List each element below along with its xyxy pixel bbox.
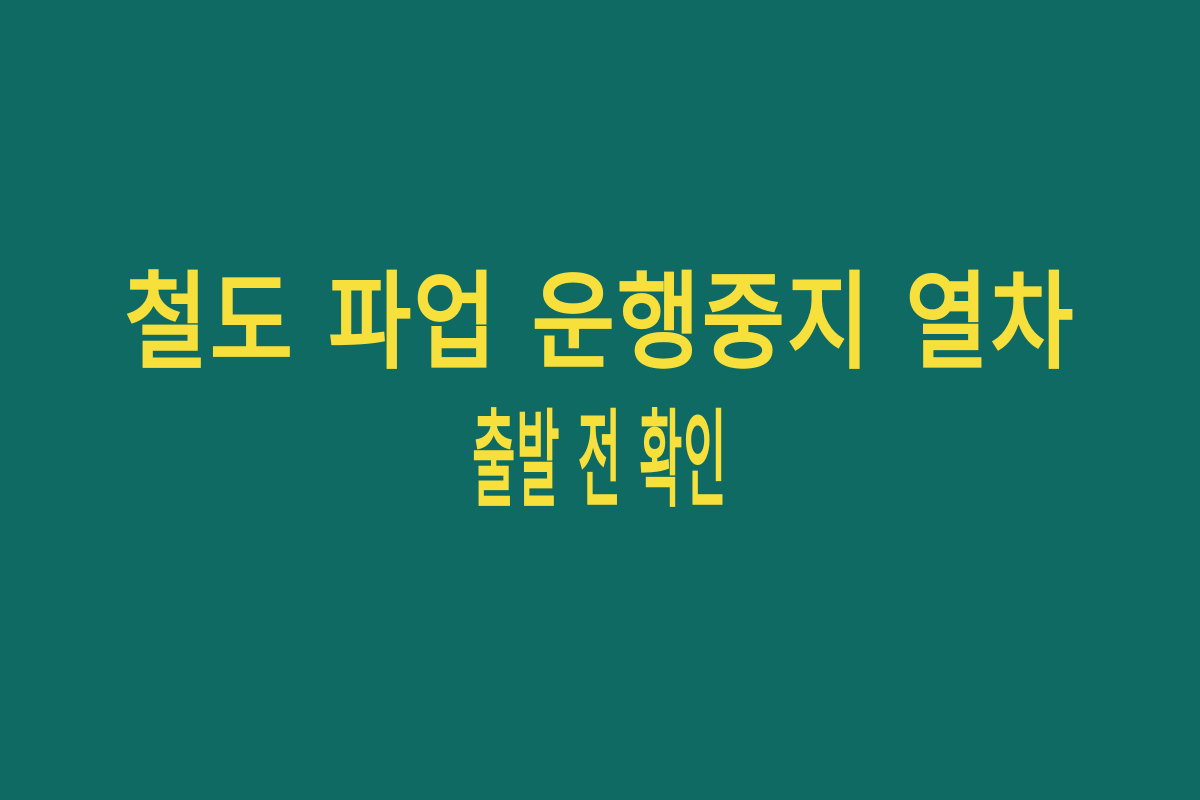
headline-line-1: 철도 파업 운행중지 열차 xyxy=(125,254,1076,392)
headline-line-2: 출발 전 확인 xyxy=(472,392,727,530)
headline-block: 철도 파업 운행중지 열차 출발 전 확인 xyxy=(0,254,1200,530)
poster-canvas: 철도 파업 운행중지 열차 출발 전 확인 xyxy=(0,0,1200,800)
